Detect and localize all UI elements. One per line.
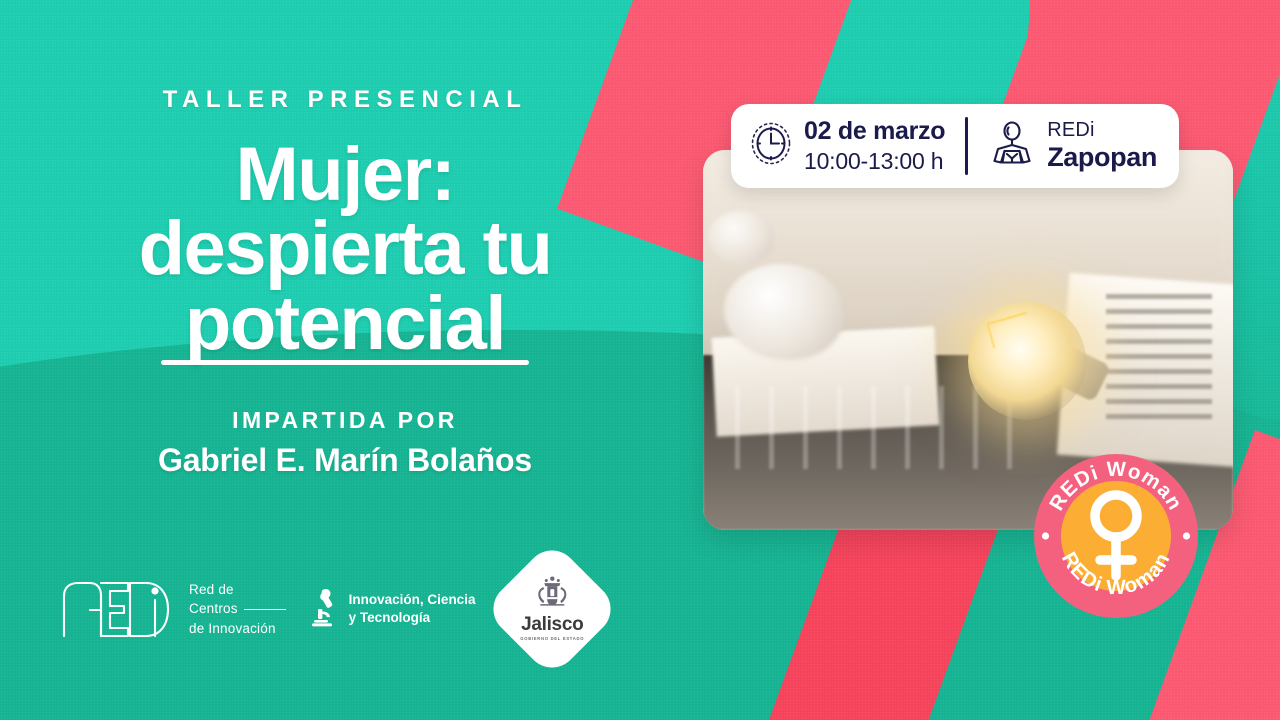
jalisco-coat-of-arms xyxy=(534,595,570,612)
microscope-icon xyxy=(310,587,340,632)
jalisco-logo-inner: Jalisco GOBIERNO DEL ESTADO xyxy=(521,576,585,641)
redi-text-line-2: Centros xyxy=(189,601,238,616)
venue-city: Zapopan xyxy=(1047,143,1157,173)
ict-text-line-1: Innovación, Ciencia xyxy=(349,591,476,609)
credit-block: IMPARTIDA POR Gabriel E. Marín Bolaños xyxy=(158,407,532,479)
headline-line-2: despierta tu xyxy=(139,212,552,286)
redi-text-line-1: Red de xyxy=(189,580,286,600)
venue-brand: REDi xyxy=(1047,119,1157,141)
headline-line-3: potencial xyxy=(139,287,552,361)
redi-text-line-2-wrap: Centros xyxy=(189,599,286,619)
sponsor-logo-strip: Red de Centros de Innovación Innovación,… xyxy=(60,556,640,662)
jalisco-wordmark: Jalisco xyxy=(521,615,585,634)
redi-monogram-logo xyxy=(60,580,178,638)
ict-text-line-2: y Tecnología xyxy=(349,609,476,627)
credit-label: IMPARTIDA POR xyxy=(158,407,532,434)
headline-line-1: Mujer: xyxy=(139,138,552,212)
date-time-group: 02 de marzo 10:00-13:00 h xyxy=(749,118,945,175)
seal-dot-right xyxy=(1183,532,1190,539)
kicker-label: TALLER PRESENCIAL xyxy=(163,86,528,114)
poster-canvas: TALLER PRESENCIAL Mujer: despierta tu po… xyxy=(0,0,1280,720)
ict-logo: Innovación, Ciencia y Tecnología xyxy=(310,587,476,632)
ict-logo-text: Innovación, Ciencia y Tecnología xyxy=(349,591,476,627)
venue-lines: REDi Zapopan xyxy=(1047,119,1157,173)
event-time: 10:00-13:00 h xyxy=(804,149,945,174)
headline-underline xyxy=(161,360,529,365)
redi-woman-seal: REDi Woman REDi Woman xyxy=(1032,452,1200,620)
redi-text-line-3: de Innovación xyxy=(189,619,286,639)
redi-text-rule xyxy=(244,609,286,611)
person-at-desk-icon xyxy=(988,120,1036,173)
date-time-lines: 02 de marzo 10:00-13:00 h xyxy=(804,118,945,175)
jalisco-logo: Jalisco GOBIERNO DEL ESTADO xyxy=(483,540,622,679)
seal-dot-left xyxy=(1042,532,1049,539)
event-date: 02 de marzo xyxy=(804,118,945,146)
redi-logo: Red de Centros de Innovación xyxy=(60,580,286,639)
photo-crumpled-paper-small xyxy=(708,211,774,265)
page-title: Mujer: despierta tu potencial xyxy=(139,138,552,361)
presenter-name: Gabriel E. Marín Bolaños xyxy=(158,442,532,479)
jalisco-subtext: GOBIERNO DEL ESTADO xyxy=(521,637,585,641)
photo-spiral-notebook xyxy=(1106,294,1212,423)
event-info-badge: 02 de marzo 10:00-13:00 h REDi xyxy=(731,104,1179,188)
clock-icon xyxy=(749,120,793,171)
badge-divider xyxy=(965,117,968,175)
redi-logo-text: Red de Centros de Innovación xyxy=(189,580,286,639)
venue-group: REDi Zapopan xyxy=(988,119,1157,173)
